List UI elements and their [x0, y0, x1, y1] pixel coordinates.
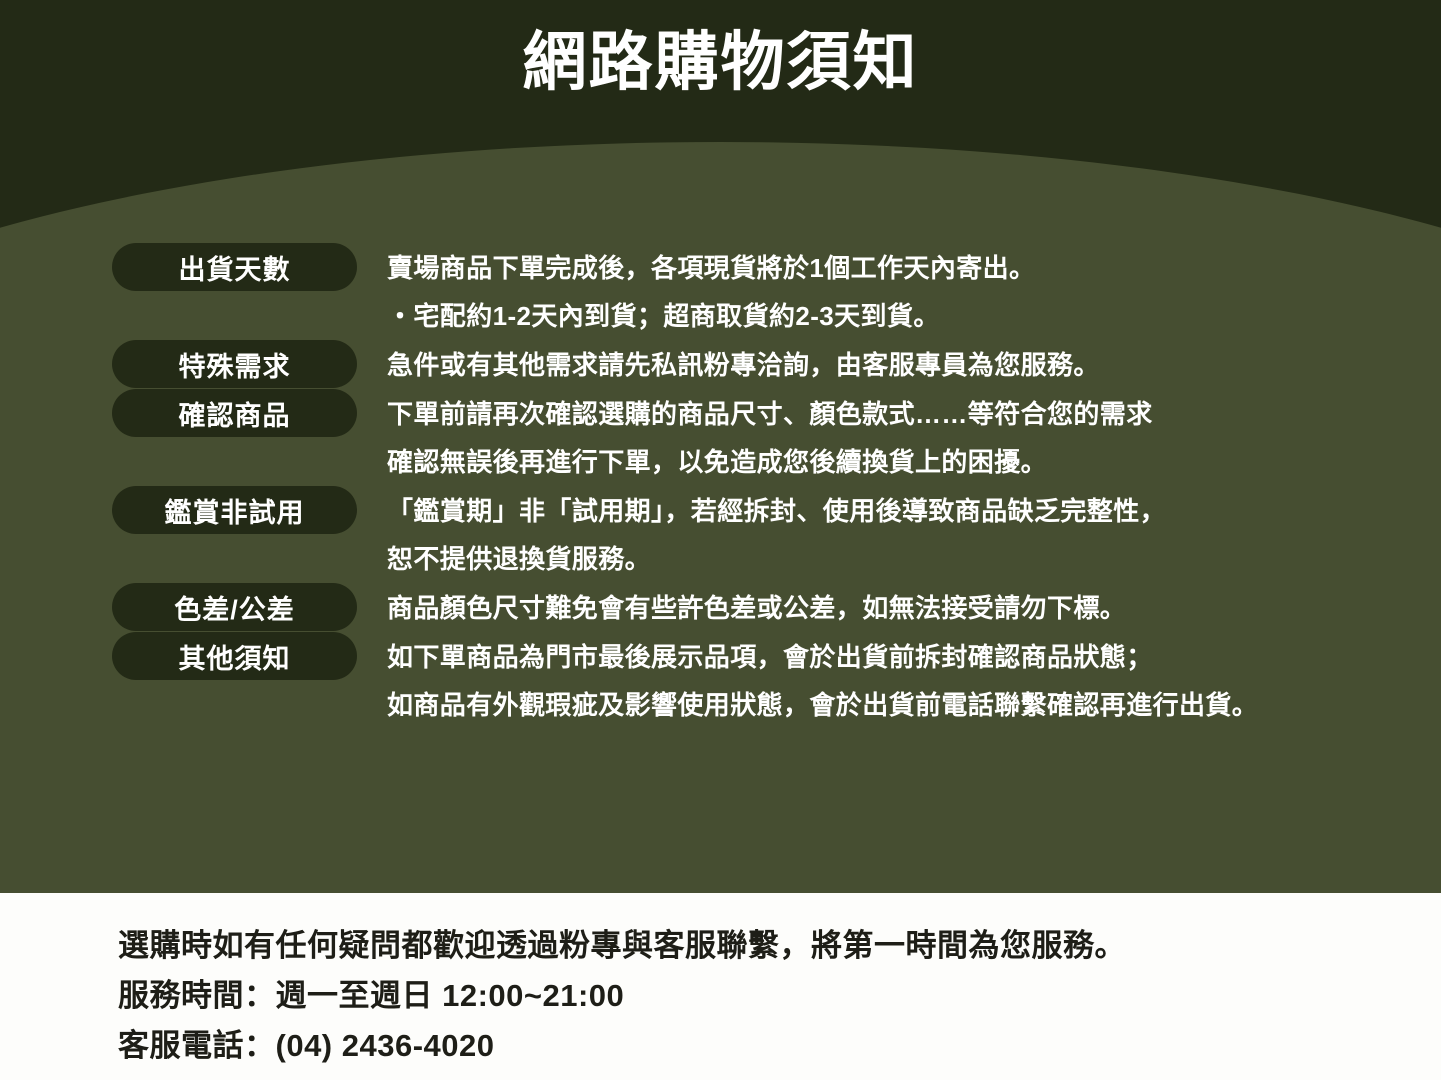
notice-line: ・宅配約1-2天內到貨；超商取貨約2-3天到貨。 [387, 292, 1441, 340]
notice-label-shipping-days: 出貨天數 [112, 243, 357, 291]
notice-line: 下單前請再次確認選購的商品尺寸、顏色款式……等符合您的需求 [387, 390, 1441, 438]
hero-panel: 網路購物須知 出貨天數 賣場商品下單完成後，各項現貨將於1個工作天內寄出。 ・宅… [0, 0, 1441, 893]
footer-contact-invitation: 選購時如有任何疑問都歡迎透過粉專與客服聯繫，將第一時間為您服務。 [118, 921, 1441, 971]
notice-body-inspection-not-trial: 「鑑賞期」非「試用期」，若經拆封、使用後導致商品缺乏完整性， 恕不提供退換貨服務… [357, 486, 1441, 583]
notice-row-inspection-not-trial: 鑑賞非試用 「鑑賞期」非「試用期」，若經拆封、使用後導致商品缺乏完整性， 恕不提… [0, 486, 1441, 583]
notice-row-shipping-days: 出貨天數 賣場商品下單完成後，各項現貨將於1個工作天內寄出。 ・宅配約1-2天內… [0, 243, 1441, 340]
shopping-notice-page: 網路購物須知 出貨天數 賣場商品下單完成後，各項現貨將於1個工作天內寄出。 ・宅… [0, 0, 1441, 1080]
notice-label-other: 其他須知 [112, 632, 357, 680]
notice-body-special-request: 急件或有其他需求請先私訊粉專洽詢，由客服專員為您服務。 [357, 340, 1441, 389]
notice-body-color-tolerance: 商品顏色尺寸難免會有些許色差或公差，如無法接受請勿下標。 [357, 583, 1441, 632]
notice-line: 急件或有其他需求請先私訊粉專洽詢，由客服專員為您服務。 [387, 341, 1441, 389]
page-title: 網路購物須知 [0, 22, 1441, 102]
notice-line: 恕不提供退換貨服務。 [387, 535, 1441, 583]
notice-body-confirm-product: 下單前請再次確認選購的商品尺寸、顏色款式……等符合您的需求 確認無誤後再進行下單… [357, 389, 1441, 486]
footer-service-phone: 客服電話：(04) 2436-4020 [118, 1021, 1441, 1071]
contact-footer: 選購時如有任何疑問都歡迎透過粉專與客服聯繫，將第一時間為您服務。 服務時間：週一… [0, 893, 1441, 1080]
notice-row-other: 其他須知 如下單商品為門市最後展示品項，會於出貨前拆封確認商品狀態； 如商品有外… [0, 632, 1441, 729]
footer-service-hours: 服務時間：週一至週日 12:00~21:00 [118, 971, 1441, 1021]
notice-line: 確認無誤後再進行下單，以免造成您後續換貨上的困擾。 [387, 438, 1441, 486]
notice-label-special-request: 特殊需求 [112, 340, 357, 388]
notice-label-color-tolerance: 色差/公差 [112, 583, 357, 631]
notice-body-other: 如下單商品為門市最後展示品項，會於出貨前拆封確認商品狀態； 如商品有外觀瑕疵及影… [357, 632, 1441, 729]
notice-line: 「鑑賞期」非「試用期」，若經拆封、使用後導致商品缺乏完整性， [387, 487, 1441, 535]
notice-label-inspection-not-trial: 鑑賞非試用 [112, 486, 357, 534]
notice-line: 如商品有外觀瑕疵及影響使用狀態，會於出貨前電話聯繫確認再進行出貨。 [387, 681, 1441, 729]
notice-body-shipping-days: 賣場商品下單完成後，各項現貨將於1個工作天內寄出。 ・宅配約1-2天內到貨；超商… [357, 243, 1441, 340]
notice-label-confirm-product: 確認商品 [112, 389, 357, 437]
notice-row-special-request: 特殊需求 急件或有其他需求請先私訊粉專洽詢，由客服專員為您服務。 [0, 340, 1441, 389]
notice-row-confirm-product: 確認商品 下單前請再次確認選購的商品尺寸、顏色款式……等符合您的需求 確認無誤後… [0, 389, 1441, 486]
notice-line: 如下單商品為門市最後展示品項，會於出貨前拆封確認商品狀態； [387, 633, 1441, 681]
notice-line: 商品顏色尺寸難免會有些許色差或公差，如無法接受請勿下標。 [387, 584, 1441, 632]
notice-line: 賣場商品下單完成後，各項現貨將於1個工作天內寄出。 [387, 244, 1441, 292]
notice-row-color-tolerance: 色差/公差 商品顏色尺寸難免會有些許色差或公差，如無法接受請勿下標。 [0, 583, 1441, 632]
notice-row-list: 出貨天數 賣場商品下單完成後，各項現貨將於1個工作天內寄出。 ・宅配約1-2天內… [0, 243, 1441, 729]
